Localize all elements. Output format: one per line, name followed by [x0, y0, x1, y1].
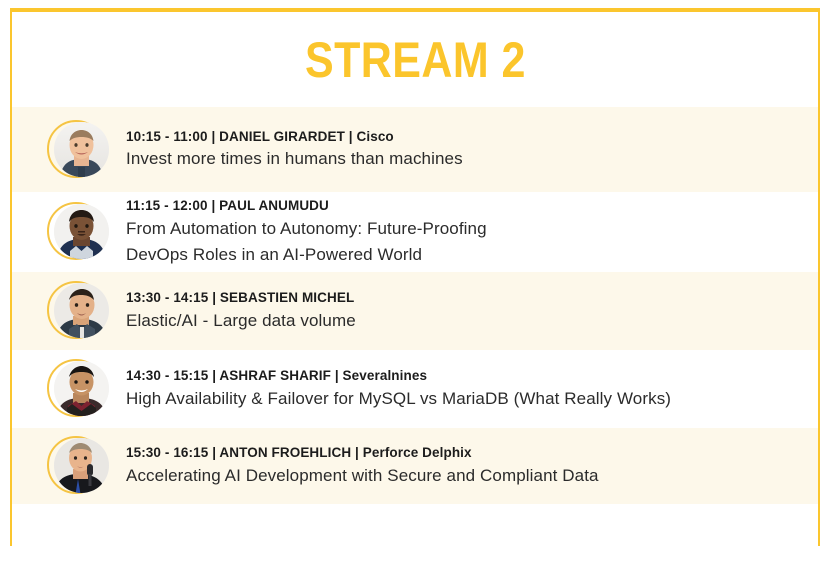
session-text: 10:15 - 11:00 | DANIEL GIRARDET | Cisco …: [126, 127, 463, 172]
session-row[interactable]: 15:30 - 16:15 | ANTON FROEHLICH | Perfor…: [12, 428, 818, 504]
session-row[interactable]: 10:15 - 11:00 | DANIEL GIRARDET | Cisco …: [12, 107, 818, 192]
avatar: [47, 435, 109, 497]
session-text: 14:30 - 15:15 | ASHRAF SHARIF | Severaln…: [126, 366, 671, 411]
session-meta: 14:30 - 15:15 | ASHRAF SHARIF | Severaln…: [126, 366, 671, 386]
session-row[interactable]: 11:15 - 12:00 | PAUL ANUMUDU From Automa…: [12, 192, 818, 272]
session-title: Elastic/AI - Large data volume: [126, 308, 356, 334]
session-text: 15:30 - 16:15 | ANTON FROEHLICH | Perfor…: [126, 443, 599, 488]
speaker-photo-daniel-girardet: [54, 122, 109, 177]
session-list: 10:15 - 11:00 | DANIEL GIRARDET | Cisco …: [12, 107, 818, 552]
speaker-photo-anton-froehlich: [54, 438, 109, 493]
session-title: Invest more times in humans than machine…: [126, 146, 463, 172]
session-text: 11:15 - 12:00 | PAUL ANUMUDU From Automa…: [126, 196, 487, 267]
session-meta: 10:15 - 11:00 | DANIEL GIRARDET | Cisco: [126, 127, 463, 147]
session-text: 13:30 - 14:15 | SEBASTIEN MICHEL Elastic…: [126, 288, 356, 333]
avatar: [47, 358, 109, 420]
avatar: [47, 119, 109, 181]
session-title-line2: DevOps Roles in an AI-Powered World: [126, 242, 487, 268]
speaker-photo-paul-anumudu: [54, 204, 109, 259]
page-title: STREAM 2: [305, 35, 526, 85]
avatar: [47, 201, 109, 263]
session-title: From Automation to Autonomy: Future-Proo…: [126, 216, 487, 242]
poster-header: STREAM 2: [12, 12, 818, 107]
session-row[interactable]: 14:30 - 15:15 | ASHRAF SHARIF | Severaln…: [12, 350, 818, 428]
session-meta: 15:30 - 16:15 | ANTON FROEHLICH | Perfor…: [126, 443, 599, 463]
session-meta: 11:15 - 12:00 | PAUL ANUMUDU: [126, 196, 487, 216]
session-title: High Availability & Failover for MySQL v…: [126, 386, 671, 412]
speaker-photo-ashraf-sharif: [54, 361, 109, 416]
session-meta: 13:30 - 14:15 | SEBASTIEN MICHEL: [126, 288, 356, 308]
session-row[interactable]: 13:30 - 14:15 | SEBASTIEN MICHEL Elastic…: [12, 272, 818, 350]
avatar: [47, 280, 109, 342]
session-title: Accelerating AI Development with Secure …: [126, 463, 599, 489]
stream-schedule-poster: STREAM 2: [0, 0, 830, 564]
speaker-photo-sebastien-michel: [54, 283, 109, 338]
